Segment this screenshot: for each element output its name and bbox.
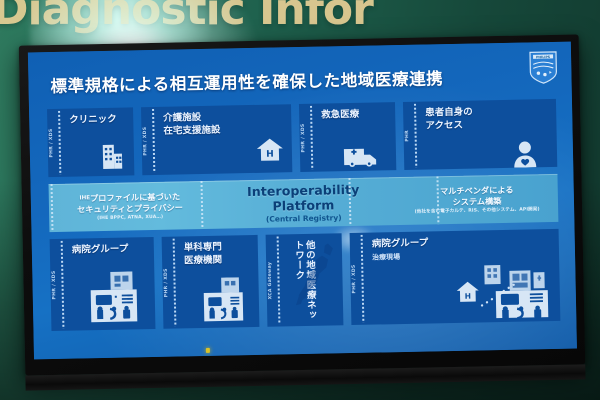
monitor-screen: PHILIPS 標準規格による相互運用性を確保した地域医療連携 PHR / XD…	[28, 42, 577, 360]
node-label: 患者自身の アクセス	[425, 105, 550, 133]
svg-text:H: H	[465, 292, 471, 301]
power-led-indicator	[206, 348, 210, 353]
presentation-slide: PHILIPS 標準規格による相互運用性を確保した地域医療連携 PHR / XD…	[28, 42, 577, 360]
svg-text:PHILIPS: PHILIPS	[536, 55, 551, 59]
protocol-tag: PHR / XDS	[143, 127, 149, 156]
protocol-tag: PHR	[405, 130, 410, 142]
node-label: 救急医療	[321, 108, 389, 122]
home-hospital-icon: H	[255, 136, 286, 163]
platform-right-label: マルチベンダによる システム構築	[400, 184, 554, 208]
svg-text:H: H	[266, 150, 274, 160]
node-specialty-institution[interactable]: PHR / XDS 単科専門 医療機関	[162, 235, 260, 329]
node-other-regional-network[interactable]: XCA Gateway 他の地域医療ネットワーク	[266, 233, 344, 327]
node-label: クリニック	[69, 113, 127, 127]
display-monitor: PHILIPS 標準規格による相互運用性を確保した地域医療連携 PHR / XD…	[19, 34, 586, 375]
node-patient-access[interactable]: PHR 患者自身の アクセス	[403, 99, 557, 170]
japan-map-icon	[292, 239, 337, 310]
platform-central-registry: Interoperability Platform (Central Regis…	[211, 181, 397, 225]
platform-security-privacy: IHEプロファイルに基づいた セキュリティとプライバシー (IHE BPPC, …	[49, 191, 211, 222]
bottom-row: PHR / XDS 病院グループ	[50, 229, 561, 331]
photo-scene: Diagnostic Infor PHILIPS 標準規格による相互	[0, 0, 600, 400]
node-emergency-care[interactable]: PHR / XDS 救急医療	[299, 102, 396, 172]
protocol-tag: PHR / XDS	[49, 128, 55, 157]
protocol-tag: PHR / XDS	[352, 264, 358, 293]
node-care-facility[interactable]: PHR / XDS 介護施設 在宅支援施設 H	[141, 104, 292, 175]
interoperability-platform-band[interactable]: IHEプロファイルに基づいた セキュリティとプライバシー (IHE BPPC, …	[49, 174, 559, 232]
hospital-building-icon	[97, 141, 128, 172]
platform-center-label: Interoperability Platform	[215, 181, 393, 215]
clinical-workstation-icon	[200, 277, 253, 324]
ihe-prefix: IHE	[79, 196, 90, 202]
node-label: 介護施設 在宅支援施設	[163, 110, 285, 138]
protocol-tag: PHR / XDS	[164, 268, 170, 297]
node-clinic[interactable]: PHR / XDS クリニック	[47, 107, 134, 177]
ambulance-icon	[342, 142, 380, 167]
platform-left-label: プロファイルに基づいた セキュリティとプライバシー	[77, 192, 183, 215]
clinical-workstation-icon	[88, 271, 145, 324]
page-title: 標準規格による相互運用性を確保した地域医療連携	[50, 63, 555, 97]
node-label: 単科専門 医療機関	[184, 241, 252, 267]
philips-logo-icon: PHILIPS	[529, 51, 558, 85]
protocol-tag: XCA Gateway	[268, 262, 274, 300]
patient-person-icon	[511, 139, 540, 168]
node-label: 病院グループ	[72, 243, 148, 257]
protocol-tag: PHR / XDS	[52, 270, 58, 299]
platform-multivendor: マルチベンダによる システム構築 (他社を含む電子カルテ、RIS、その他システム…	[396, 184, 559, 216]
protocol-tag: PHR / XDS	[301, 123, 307, 152]
enterprise-imaging-icon: H	[451, 260, 556, 320]
node-hospital-group-treatment[interactable]: PHR / XDS 病院グループ 治療現場 H	[350, 229, 561, 325]
top-row: PHR / XDS クリニック	[47, 99, 557, 177]
node-hospital-group[interactable]: PHR / XDS 病院グループ	[50, 237, 156, 331]
